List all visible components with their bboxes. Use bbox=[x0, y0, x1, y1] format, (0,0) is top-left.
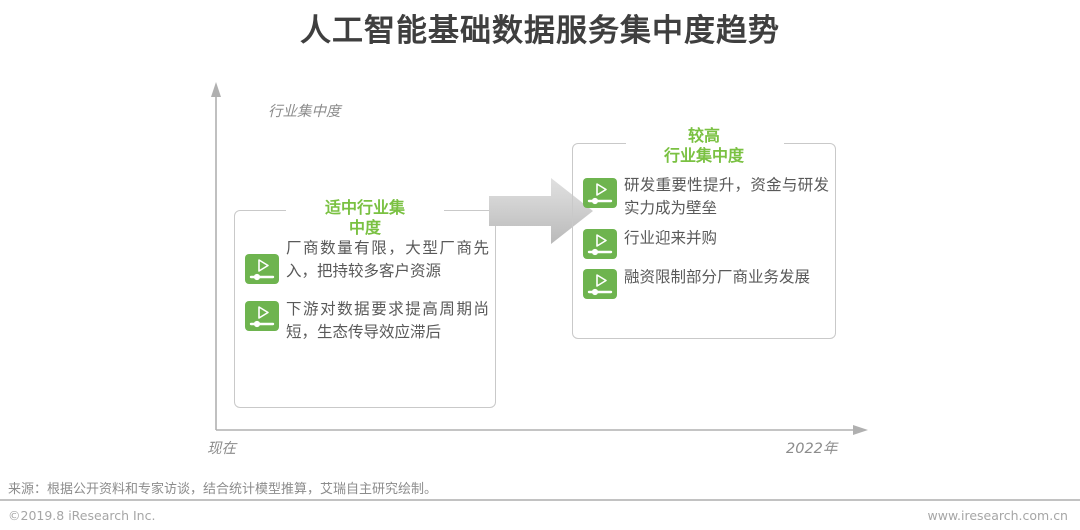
website-url: www.iresearch.com.cn bbox=[928, 508, 1069, 523]
stage-heading-future-line2: 行业集中度 bbox=[572, 146, 836, 166]
video-slider-icon bbox=[245, 301, 279, 331]
stage-heading-future-line1: 较高 bbox=[572, 126, 836, 146]
stage-bullets-future: 研发重要性提升，资金与研发实力成为壁垒 行业迎来并购 融资限制部分厂商业 bbox=[583, 174, 829, 306]
stage-heading-future: 较高 行业集中度 bbox=[572, 126, 836, 166]
stage-heading-current-line2: 中度 bbox=[234, 218, 496, 238]
video-slider-icon bbox=[583, 269, 617, 299]
list-item[interactable]: 研发重要性提升，资金与研发实力成为壁垒 bbox=[583, 174, 829, 220]
bullet-text: 融资限制部分厂商业务发展 bbox=[624, 266, 810, 289]
copyright-text: ©2019.8 iResearch Inc. bbox=[8, 508, 155, 523]
list-item[interactable]: 融资限制部分厂商业务发展 bbox=[583, 266, 829, 299]
bullet-text: 研发重要性提升，资金与研发实力成为壁垒 bbox=[624, 174, 829, 220]
video-slider-icon bbox=[245, 254, 279, 284]
y-axis-label: 行业集中度 bbox=[268, 100, 341, 121]
x-axis-tick-2022: 2022年 bbox=[786, 437, 837, 458]
bullet-text: 厂商数量有限，大型厂商先入，把持较多客户资源 bbox=[286, 237, 489, 283]
source-note: 来源：根据公开资料和专家访谈，结合统计模型推算，艾瑞自主研究绘制。 bbox=[8, 478, 437, 497]
footer-divider bbox=[0, 499, 1080, 501]
stage-heading-current-line1: 适中行业集 bbox=[234, 198, 496, 218]
bullet-text: 行业迎来并购 bbox=[624, 227, 717, 250]
chart-canvas: 行业集中度 现在 2022年 适中行业集 中度 厂商数量有限，大型厂商先入，把持… bbox=[0, 0, 1080, 495]
stage-bullets-current: 厂商数量有限，大型厂商先入，把持较多客户资源 下游对数据要求提高周期尚短，生态传… bbox=[245, 237, 489, 353]
list-item[interactable]: 厂商数量有限，大型厂商先入，把持较多客户资源 bbox=[245, 237, 489, 284]
list-item[interactable]: 行业迎来并购 bbox=[583, 227, 829, 259]
bullet-text: 下游对数据要求提高周期尚短，生态传导效应滞后 bbox=[286, 298, 489, 344]
stage-heading-current: 适中行业集 中度 bbox=[234, 198, 496, 238]
video-slider-icon bbox=[583, 229, 617, 259]
x-axis-tick-now: 现在 bbox=[207, 437, 236, 458]
video-slider-icon bbox=[583, 178, 617, 208]
list-item[interactable]: 下游对数据要求提高周期尚短，生态传导效应滞后 bbox=[245, 298, 489, 344]
